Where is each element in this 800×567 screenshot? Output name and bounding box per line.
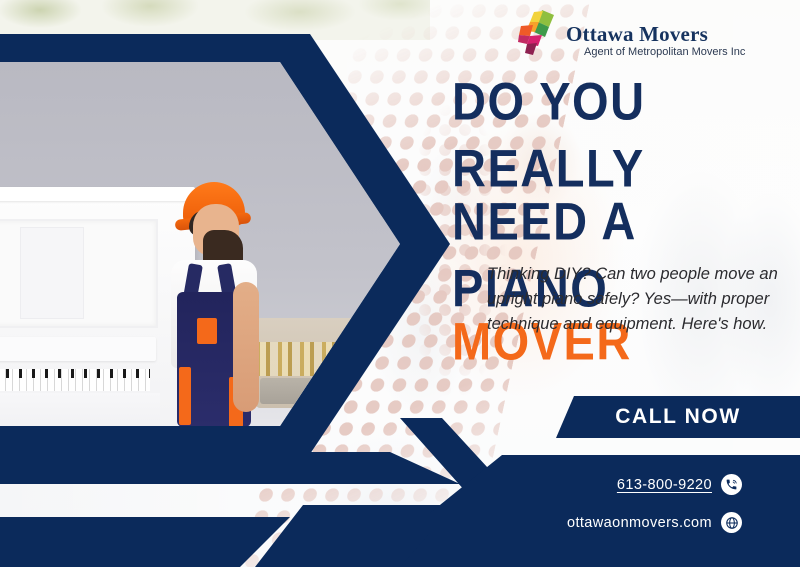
headline-line-1: Do You Really bbox=[452, 68, 797, 202]
navy-band-upper bbox=[0, 452, 460, 484]
globe-icon bbox=[721, 512, 742, 533]
piano-inner-panel bbox=[20, 227, 84, 319]
mover-arm bbox=[233, 282, 259, 412]
overall-stripe-left bbox=[179, 367, 191, 425]
phone-contact[interactable]: 613-800-9220 bbox=[617, 474, 742, 495]
ottawa-movers-bird-logo-icon bbox=[516, 8, 566, 58]
promo-banner: Ottawa Movers Agent of Metropolitan Move… bbox=[0, 0, 800, 567]
navy-band-lower bbox=[0, 517, 290, 567]
logo-company-name: Ottawa Movers bbox=[566, 22, 708, 47]
brand-logo[interactable]: Ottawa Movers Agent of Metropolitan Move… bbox=[516, 8, 756, 60]
phone-icon bbox=[721, 474, 742, 495]
overall-pocket bbox=[197, 318, 217, 344]
mover-figure bbox=[155, 152, 275, 426]
website-url: ottawaonmovers.com bbox=[567, 515, 712, 531]
call-now-button[interactable]: CALL NOW bbox=[556, 396, 800, 438]
piano-fallboard bbox=[0, 337, 156, 361]
footer-panel bbox=[430, 455, 800, 567]
website-contact[interactable]: ottawaonmovers.com bbox=[567, 512, 742, 533]
call-now-button-label: CALL NOW bbox=[615, 405, 741, 429]
body-paragraph: Thinking DIY? Can two people move an upr… bbox=[487, 262, 780, 337]
piano-keys bbox=[0, 369, 150, 391]
logo-tagline: Agent of Metropolitan Movers Inc bbox=[584, 46, 745, 58]
phone-number: 613-800-9220 bbox=[617, 477, 712, 493]
piano-lower-body bbox=[0, 393, 160, 426]
